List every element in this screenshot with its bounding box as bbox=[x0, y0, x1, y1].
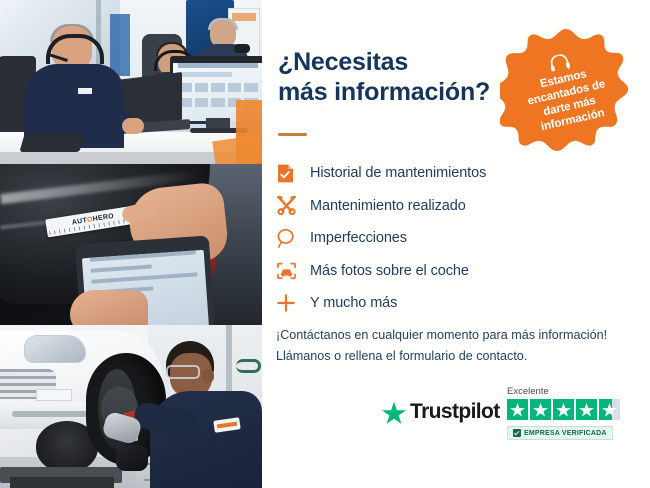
content-column: ¿Necesitas más información? Estamos enca… bbox=[262, 0, 650, 488]
headline-line-2: más información? bbox=[278, 78, 528, 108]
feature-label: Historial de mantenimientos bbox=[310, 165, 486, 181]
feature-label: Y mucho más bbox=[310, 295, 397, 311]
star-partial bbox=[599, 399, 620, 420]
star-filled bbox=[507, 399, 528, 420]
webcam bbox=[234, 44, 250, 53]
verified-label: EMPRESA VERIFICADA bbox=[524, 430, 607, 437]
plus-icon bbox=[276, 293, 310, 313]
trustpilot-logo[interactable]: Trustpilot bbox=[382, 400, 500, 424]
star-rating bbox=[507, 399, 620, 420]
feature-label: Más fotos sobre el coche bbox=[310, 263, 469, 279]
information-banner: AUTOHERO bbox=[0, 0, 650, 488]
title-underline-rule bbox=[278, 133, 307, 136]
contact-line-1: ¡Contáctanos en cualquier momento para m… bbox=[276, 325, 628, 346]
feature-item-historial: Historial de mantenimientos bbox=[276, 157, 606, 190]
call-centre-agents-photo bbox=[0, 0, 262, 164]
front-agent-with-headset bbox=[22, 26, 126, 146]
headlight bbox=[24, 335, 86, 363]
magnifier-icon bbox=[276, 228, 310, 249]
photo-column: AUTOHERO bbox=[0, 0, 262, 488]
feature-label: Imperfecciones bbox=[310, 230, 407, 246]
licence-plate bbox=[36, 389, 72, 401]
car-lift-base bbox=[10, 477, 114, 488]
contact-line-2: Llámanos o rellena el formulario de cont… bbox=[276, 346, 628, 367]
car-inspection-ruler-photo: AUTOHERO bbox=[0, 164, 262, 325]
verified-check-icon bbox=[513, 429, 521, 437]
badge-text: Estamos encantados de darte más informac… bbox=[511, 61, 625, 139]
tools-cross-icon bbox=[276, 195, 310, 216]
star-filled bbox=[576, 399, 597, 420]
mechanic-wheel-photo bbox=[0, 325, 262, 488]
mechanic bbox=[150, 341, 262, 488]
feature-item-fotos: Más fotos sobre el coche bbox=[276, 255, 606, 288]
feature-item-imperfecciones: Imperfecciones bbox=[276, 222, 606, 255]
clipboard-check-icon bbox=[276, 162, 310, 184]
verified-company-badge: EMPRESA VERIFICADA bbox=[507, 426, 613, 440]
contact-text: ¡Contáctanos en cualquier momento para m… bbox=[276, 325, 628, 367]
inspector-second-hand bbox=[70, 290, 148, 325]
rating-label: Excelente bbox=[507, 386, 549, 397]
trustpilot-widget[interactable]: Trustpilot Excelente bbox=[382, 386, 632, 448]
star-filled bbox=[553, 399, 574, 420]
trustpilot-brand-name: Trustpilot bbox=[410, 400, 500, 424]
car-photo-frame-icon bbox=[276, 261, 310, 281]
desk-tablet bbox=[19, 134, 84, 152]
star-filled bbox=[530, 399, 551, 420]
feature-item-mucho-mas: Y mucho más bbox=[276, 287, 606, 320]
feature-item-mantenimiento: Mantenimiento realizado bbox=[276, 190, 606, 223]
promo-starburst-badge: Estamos encantados de darte más informac… bbox=[500, 26, 632, 156]
trustpilot-star-icon bbox=[382, 401, 406, 424]
feature-label: Mantenimiento realizado bbox=[310, 198, 466, 214]
features-list: Historial de mantenimientos Mantenimient… bbox=[276, 157, 606, 320]
